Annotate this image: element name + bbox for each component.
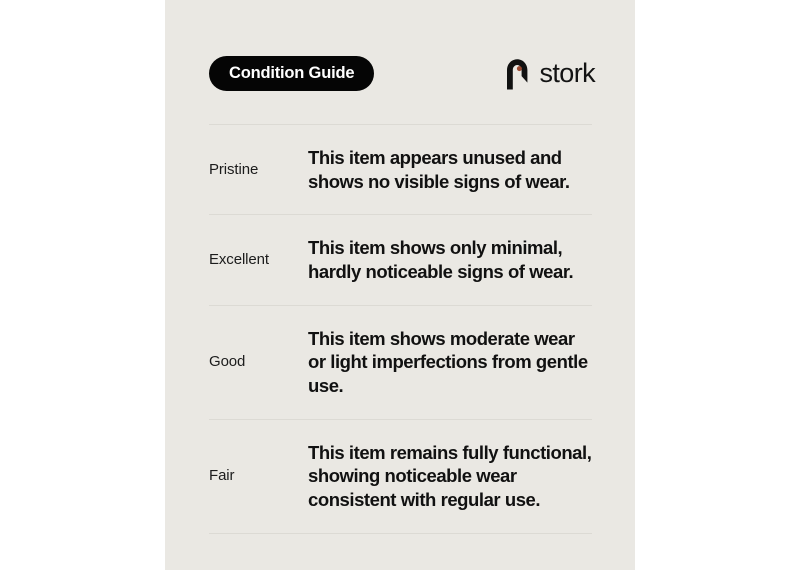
condition-description: This item remains fully functional, show… bbox=[308, 441, 592, 512]
condition-label: Good bbox=[209, 353, 308, 371]
table-row: Pristine This item appears unused and sh… bbox=[209, 125, 592, 214]
condition-label: Excellent bbox=[209, 251, 308, 269]
stork-arch-icon bbox=[504, 57, 530, 90]
screenshot-canvas: Condition Guide stork Pristine This item… bbox=[0, 0, 800, 570]
condition-description: This item appears unused and shows no vi… bbox=[308, 146, 592, 193]
condition-description: This item shows moderate wear or light i… bbox=[308, 327, 592, 398]
condition-guide-pill-label: Condition Guide bbox=[229, 65, 354, 82]
condition-description: This item shows only minimal, hardly not… bbox=[308, 236, 592, 283]
table-footer-space bbox=[209, 534, 592, 560]
condition-guide-card: Condition Guide stork Pristine This item… bbox=[165, 0, 635, 570]
condition-guide-table: Pristine This item appears unused and sh… bbox=[209, 124, 592, 560]
table-row: Excellent This item shows only minimal, … bbox=[209, 215, 592, 304]
brand-logo[interactable]: stork bbox=[504, 57, 595, 90]
card-header: Condition Guide stork bbox=[209, 56, 595, 92]
condition-label: Fair bbox=[209, 467, 308, 485]
table-row: Fair This item remains fully functional,… bbox=[209, 420, 592, 533]
table-row: Good This item shows moderate wear or li… bbox=[209, 306, 592, 419]
condition-label: Pristine bbox=[209, 161, 308, 179]
condition-guide-pill[interactable]: Condition Guide bbox=[209, 56, 374, 91]
brand-wordmark: stork bbox=[539, 60, 595, 87]
